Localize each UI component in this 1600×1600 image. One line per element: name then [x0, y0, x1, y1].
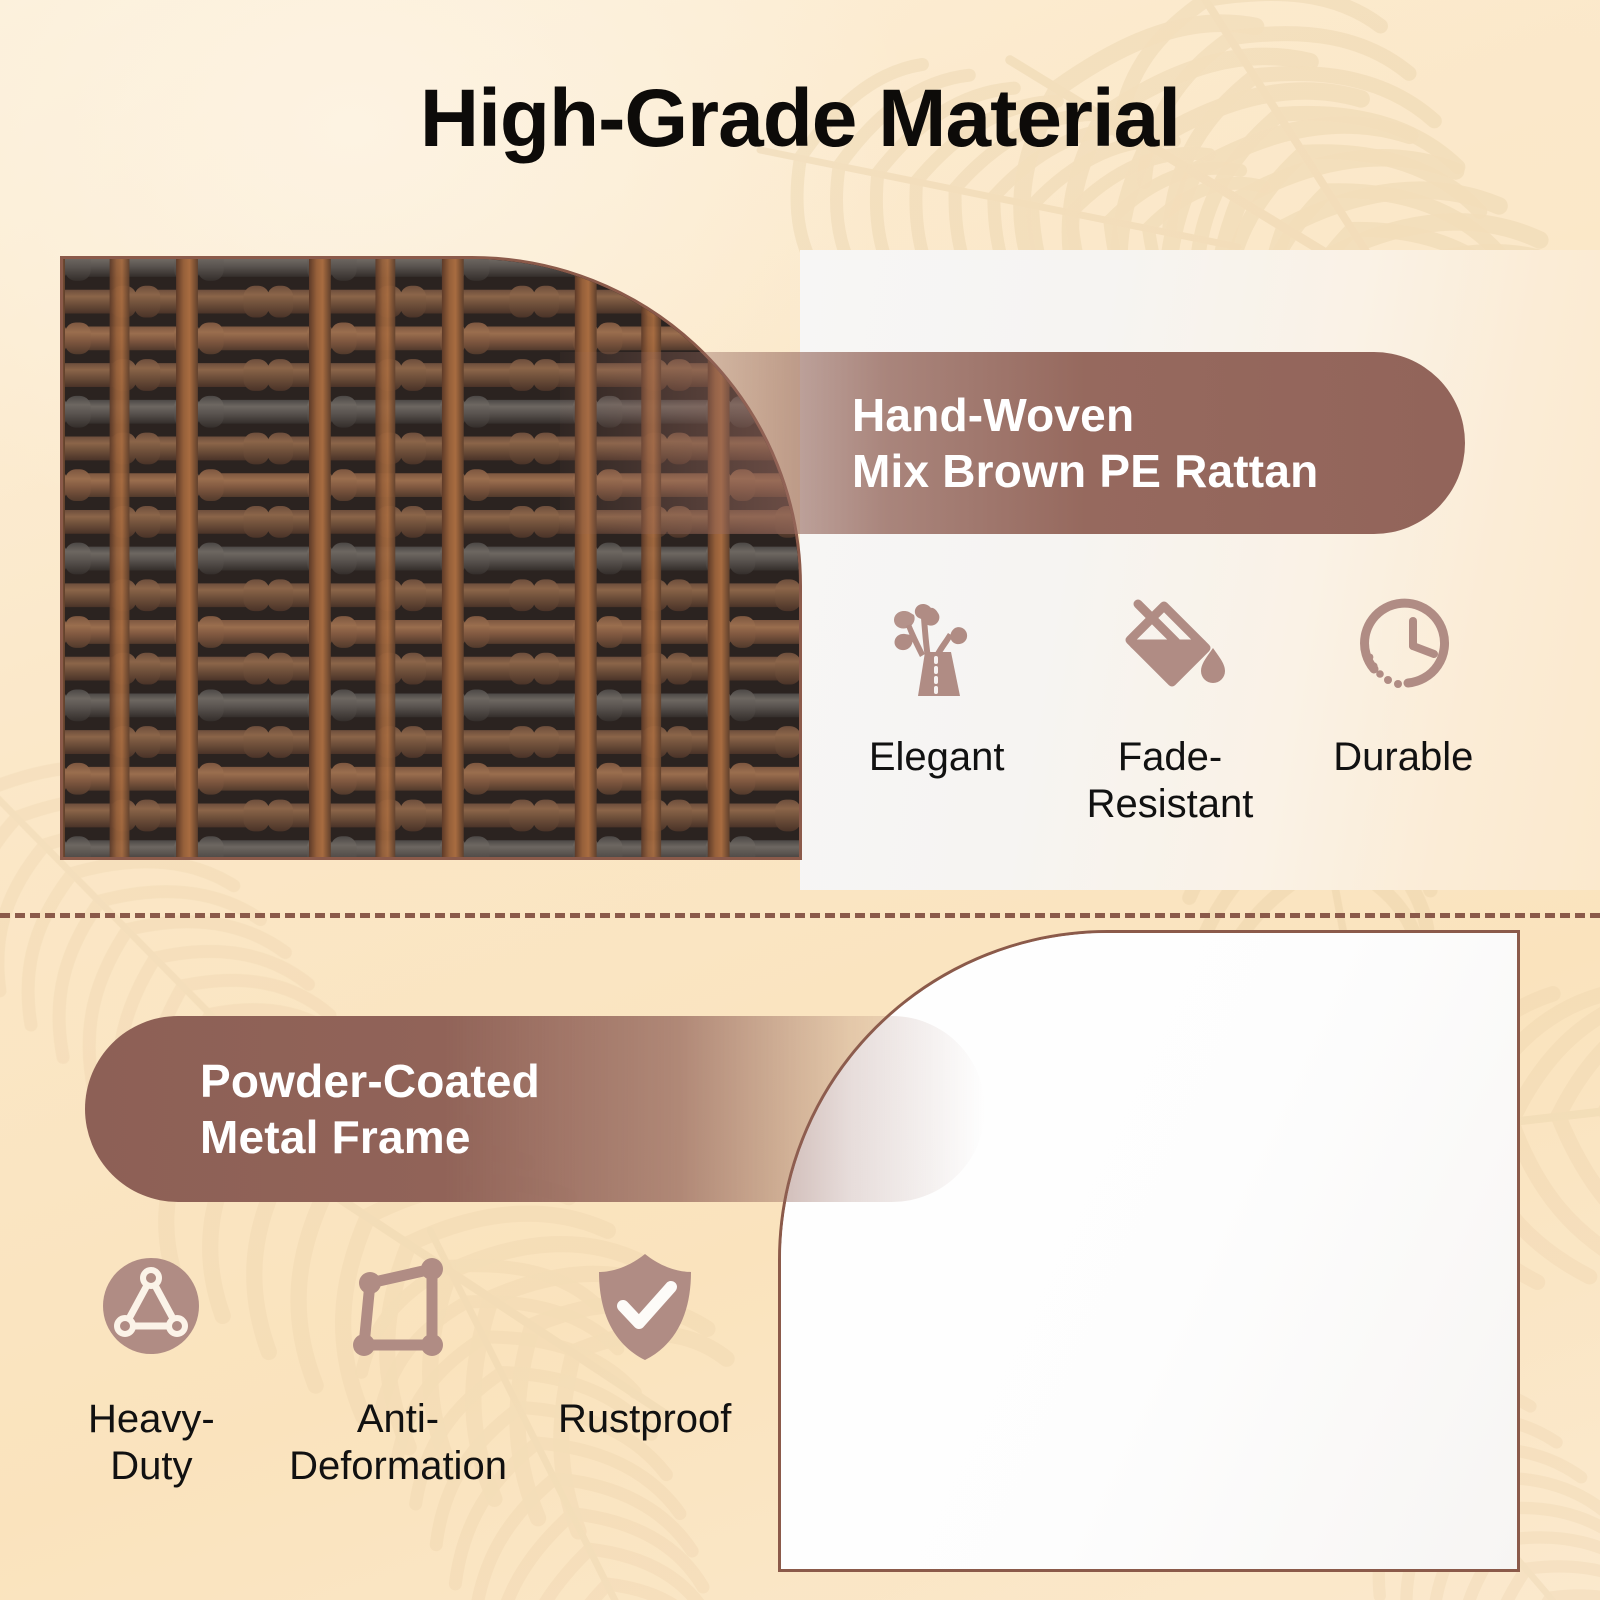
banner-line-1: Powder-Coated — [200, 1053, 985, 1109]
paint-bucket-drop-icon — [1114, 586, 1226, 702]
feature-elegant: Elegant — [820, 586, 1053, 828]
powder-coated-banner: Powder-Coated Metal Frame — [85, 1016, 985, 1202]
section-1-feature-row: Elegant Fade- Resistant — [820, 586, 1520, 828]
feature-label: Rustproof — [558, 1396, 731, 1443]
feature-anti-deformation: Anti- Deformation — [275, 1248, 522, 1490]
flower-vase-icon — [889, 586, 985, 702]
section-2-feature-row: Heavy- Duty Anti- Deformation — [28, 1248, 768, 1490]
quadrilateral-nodes-icon — [346, 1248, 450, 1364]
banner-line-2: Mix Brown PE Rattan — [852, 443, 1465, 499]
rattan-weave-texture — [63, 259, 799, 858]
hand-woven-banner: Hand-Woven Mix Brown PE Rattan — [560, 352, 1465, 534]
triangle-nodes-icon — [99, 1248, 203, 1364]
feature-fade-resistant: Fade- Resistant — [1053, 586, 1286, 828]
feature-rustproof: Rustproof — [521, 1248, 768, 1490]
feature-label: Durable — [1333, 734, 1473, 781]
feature-label: Heavy- Duty — [88, 1396, 215, 1490]
banner-line-2: Metal Frame — [200, 1109, 985, 1165]
feature-label: Elegant — [869, 734, 1005, 781]
rattan-weave-photo — [60, 256, 802, 860]
banner-line-1: Hand-Woven — [852, 387, 1465, 443]
feature-label: Anti- Deformation — [289, 1396, 507, 1490]
feature-label: Fade- Resistant — [1087, 734, 1254, 828]
feature-durable: Durable — [1287, 586, 1520, 828]
clock-icon — [1350, 586, 1456, 702]
page-title: High-Grade Material — [0, 78, 1600, 160]
infographic-root: High-Grade Material — [0, 0, 1600, 1600]
feature-heavy-duty: Heavy- Duty — [28, 1248, 275, 1490]
shield-check-icon — [595, 1248, 695, 1364]
section-divider — [0, 913, 1600, 918]
